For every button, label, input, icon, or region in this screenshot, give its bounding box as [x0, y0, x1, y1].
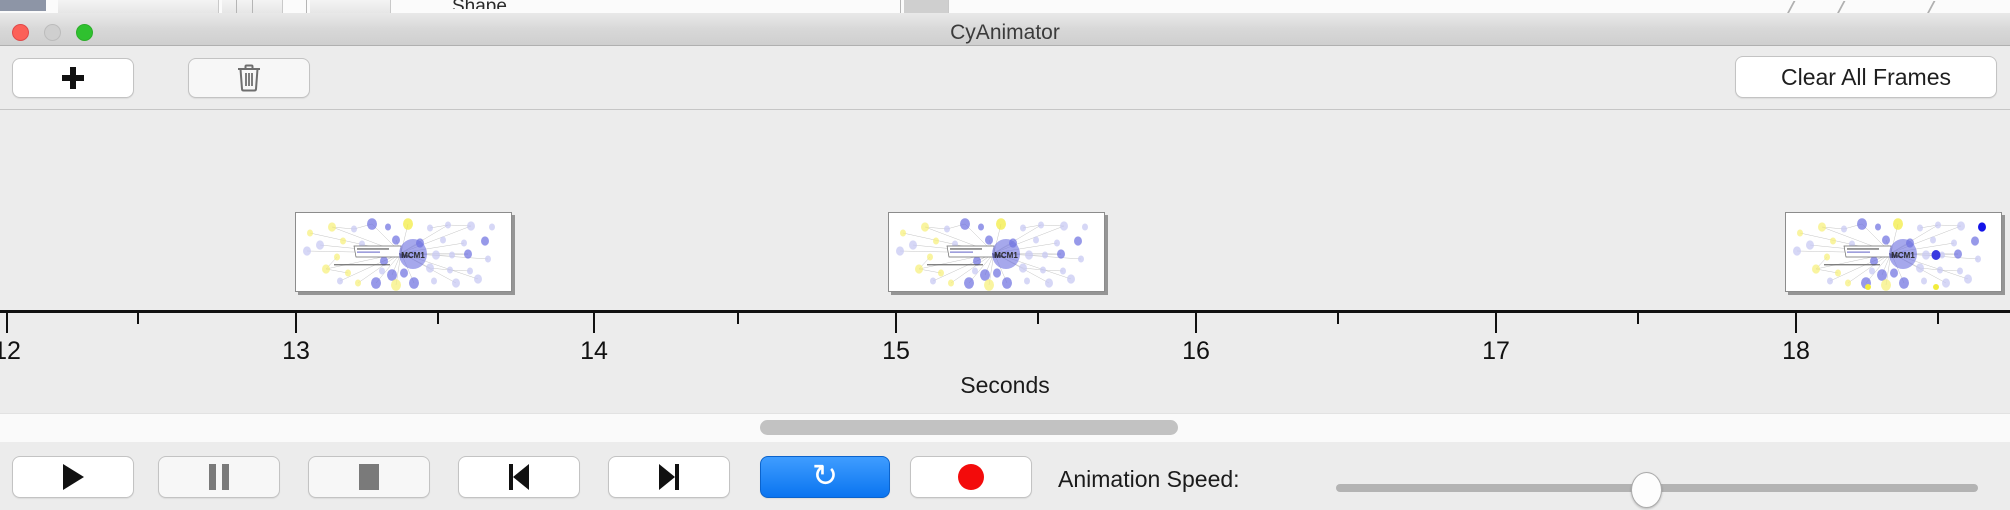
stop-button[interactable]	[308, 456, 430, 498]
cyanimator-window: Shape CyAnimator Clear All Frames	[0, 0, 2010, 510]
background-window-strip: Shape	[0, 0, 2010, 14]
loop-button[interactable]: ↻	[760, 456, 890, 498]
axis-tick-label: 18	[1782, 337, 1810, 366]
axis-tick-label: 13	[282, 337, 310, 366]
axis-tick	[1495, 313, 1497, 333]
clear-all-frames-button[interactable]: Clear All Frames	[1735, 56, 1997, 98]
title-bar: CyAnimator	[0, 13, 2010, 46]
background-tick	[306, 0, 307, 13]
axis-tick-label: 16	[1182, 337, 1210, 366]
horizontal-scrollbar[interactable]	[0, 413, 2010, 443]
stop-icon	[359, 464, 379, 490]
scrollbar-thumb[interactable]	[760, 420, 1178, 435]
axis-tick	[895, 313, 897, 333]
background-window-label: Shape	[452, 0, 507, 9]
delete-frame-button[interactable]	[188, 58, 310, 98]
axis-tick	[6, 313, 8, 333]
axis-tick-label: 17	[1482, 337, 1510, 366]
animation-speed-slider-knob[interactable]	[1631, 472, 1662, 508]
svg-text:MCM1: MCM1	[1891, 251, 1915, 260]
background-chip	[58, 0, 219, 13]
skip-start-button[interactable]	[458, 456, 580, 498]
record-icon	[958, 464, 984, 490]
background-window-tab	[0, 0, 46, 11]
axis-tick	[593, 313, 595, 333]
background-tick	[252, 0, 253, 13]
add-frame-button[interactable]	[12, 58, 134, 98]
svg-text:MCM1: MCM1	[994, 251, 1018, 260]
pause-button[interactable]	[158, 456, 280, 498]
play-button[interactable]	[12, 456, 134, 498]
frame-thumbnail[interactable]: MCM1	[295, 212, 512, 292]
clear-all-frames-label: Clear All Frames	[1781, 64, 1951, 91]
skip-end-icon	[659, 464, 679, 490]
svg-text:MCM1: MCM1	[401, 251, 425, 260]
axis-tick	[1195, 313, 1197, 333]
axis-tick	[295, 313, 297, 333]
axis-tick	[1795, 313, 1797, 333]
plus-icon	[62, 67, 84, 89]
axis-tick	[137, 313, 139, 324]
background-chip	[310, 0, 391, 13]
pause-icon	[209, 464, 229, 490]
frame-thumbnail[interactable]: MCM1	[1785, 212, 2002, 292]
background-tick	[900, 0, 901, 13]
axis-tick	[437, 313, 439, 324]
loop-icon: ↻	[812, 463, 838, 491]
axis-tick	[737, 313, 739, 324]
frame-thumbnail[interactable]: MCM1	[888, 212, 1105, 292]
axis-line	[0, 310, 2010, 313]
axis-tick	[1337, 313, 1339, 324]
timeline-ruler[interactable]: 12131415161718 Seconds	[0, 310, 2010, 405]
toolbar: Clear All Frames	[0, 46, 2010, 110]
axis-tick	[1037, 313, 1039, 324]
axis-title: Seconds	[0, 372, 2010, 399]
play-icon	[63, 464, 84, 490]
axis-tick-label: 12	[0, 337, 21, 366]
background-tick	[236, 0, 237, 13]
record-button[interactable]	[910, 456, 1032, 498]
background-chip	[904, 0, 949, 13]
axis-tick	[1937, 313, 1939, 324]
trash-icon	[236, 63, 262, 93]
window-title: CyAnimator	[0, 21, 2010, 45]
animation-speed-label: Animation Speed:	[1058, 466, 1240, 493]
axis-tick-label: 15	[882, 337, 910, 366]
skip-start-icon	[509, 464, 529, 490]
axis-tick	[1637, 313, 1639, 324]
playback-toolbar: ↻ Animation Speed:	[0, 442, 2010, 510]
skip-end-button[interactable]	[608, 456, 730, 498]
axis-tick-label: 14	[580, 337, 608, 366]
